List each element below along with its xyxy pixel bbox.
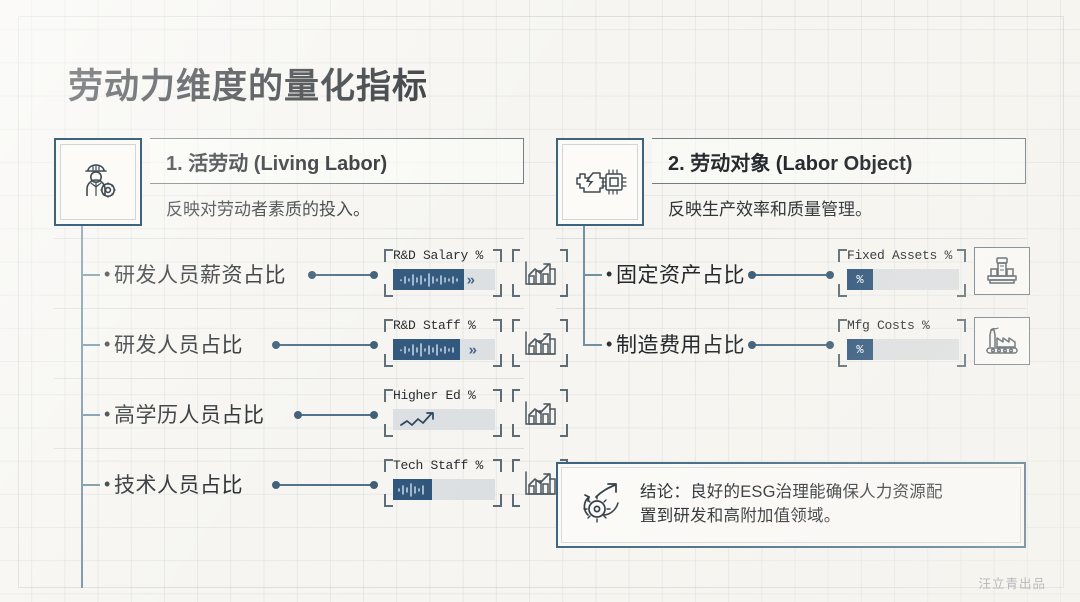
metric-badge: Tech Staff % <box>384 459 502 507</box>
bank-building-icon <box>974 247 1030 295</box>
badge-label: Higher Ed % <box>393 388 476 403</box>
engine-chip-icon <box>556 138 644 226</box>
factory-conveyor-icon <box>974 317 1030 365</box>
badge-label: Tech Staff % <box>393 458 483 473</box>
bar-chart-trend-icon <box>512 389 568 437</box>
tree-branch <box>82 484 100 486</box>
infographic-page: 劳动力维度的量化指标 <box>0 0 1080 602</box>
badge-label: R&D Salary % <box>393 248 483 263</box>
section-living-labor: 1. 活劳动 (Living Labor) 反映对劳动者素质的投入。 • 研发人… <box>54 138 524 518</box>
badge-label: Mfg Costs % <box>847 318 930 333</box>
section-header: 1. 活劳动 (Living Labor) 反映对劳动者素质的投入。 <box>54 138 524 230</box>
progress-bar: » <box>393 339 495 360</box>
metric-label: 固定资产占比 <box>616 259 745 289</box>
metric-badge: R&D Salary % » <box>384 249 502 297</box>
page-title: 劳动力维度的量化指标 <box>68 58 428 109</box>
list-item[interactable]: • 研发人员占比 R&D Staff % <box>54 308 524 378</box>
progress-fill <box>393 269 464 290</box>
connector-line <box>276 344 374 346</box>
connector-line <box>276 484 374 486</box>
progress-bar <box>393 479 495 500</box>
list-item[interactable]: • 高学历人员占比 Higher Ed % <box>54 378 524 448</box>
section-title: 2. 劳动对象 (Labor Object) <box>668 147 912 176</box>
list-item[interactable]: • 制造费用占比 Mfg Costs % % <box>556 308 1026 378</box>
badge-label: R&D Staff % <box>393 318 476 333</box>
connector-line <box>298 414 374 416</box>
metric-label: 研发人员薪资占比 <box>114 259 286 289</box>
metric-list: • 固定资产占比 Fixed Assets % % <box>556 238 1026 378</box>
list-item[interactable]: • 技术人员占比 Tech Staff % <box>54 448 524 518</box>
footer-signature: 汪立青出品 <box>978 573 1046 592</box>
section-title: 1. 活劳动 (Living Labor) <box>166 147 387 176</box>
metric-badge: Mfg Costs % % <box>838 319 966 367</box>
connector-line <box>752 344 830 346</box>
metric-label: 研发人员占比 <box>114 329 243 359</box>
bullet-icon: • <box>104 405 110 423</box>
connector-line <box>312 274 374 276</box>
metric-label: 制造费用占比 <box>616 329 745 359</box>
progress-fill <box>393 339 460 360</box>
worker-gear-icon <box>54 138 142 226</box>
sparkline-icon <box>397 409 469 430</box>
tree-branch <box>584 344 602 346</box>
metric-badge: Higher Ed % <box>384 389 502 437</box>
connector-line <box>752 274 830 276</box>
metric-badge: R&D Staff % » <box>384 319 502 367</box>
tree-branch <box>82 414 100 416</box>
metric-badge: Fixed Assets % % <box>838 249 966 297</box>
section-subtitle: 反映对劳动者素质的投入。 <box>150 195 524 220</box>
percent-chip: % <box>847 269 873 290</box>
chevron-right-icon: » <box>469 341 475 358</box>
tree-branch <box>82 274 100 276</box>
bullet-icon: • <box>104 265 110 283</box>
conclusion-line-1: 结论：良好的ESG治理能确保人力资源配 <box>640 481 943 505</box>
conclusion-line-2: 置到研发和高附加值领域。 <box>640 505 943 529</box>
progress-bar: % <box>847 269 959 290</box>
chevron-right-icon: » <box>467 271 473 288</box>
list-item[interactable]: • 固定资产占比 Fixed Assets % % <box>556 238 1026 308</box>
progress-bar: » <box>393 269 495 290</box>
metric-label: 高学历人员占比 <box>114 399 265 429</box>
conclusion-text: 结论：良好的ESG治理能确保人力资源配 置到研发和高附加值领域。 <box>640 481 943 529</box>
list-item[interactable]: • 研发人员薪资占比 R&D Salary % <box>54 238 524 308</box>
tree-branch <box>82 344 100 346</box>
bullet-icon: • <box>104 335 110 353</box>
tree-branch <box>584 274 602 276</box>
progress-bar: % <box>847 339 959 360</box>
gear-arrow-icon <box>576 479 626 532</box>
section-labor-object: 2. 劳动对象 (Labor Object) 反映生产效率和质量管理。 • 固定… <box>556 138 1026 378</box>
percent-chip: % <box>847 339 873 360</box>
bullet-icon: • <box>606 265 612 283</box>
metric-label: 技术人员占比 <box>114 469 243 499</box>
badge-label: Fixed Assets % <box>847 248 952 263</box>
conclusion-box: 结论：良好的ESG治理能确保人力资源配 置到研发和高附加值领域。 <box>556 462 1026 548</box>
bullet-icon: • <box>606 335 612 353</box>
progress-bar <box>393 409 495 430</box>
bullet-icon: • <box>104 475 110 493</box>
section-subtitle: 反映生产效率和质量管理。 <box>652 195 1026 220</box>
section-header: 2. 劳动对象 (Labor Object) 反映生产效率和质量管理。 <box>556 138 1026 230</box>
progress-fill <box>393 479 432 500</box>
metric-list: • 研发人员薪资占比 R&D Salary % <box>54 238 524 518</box>
